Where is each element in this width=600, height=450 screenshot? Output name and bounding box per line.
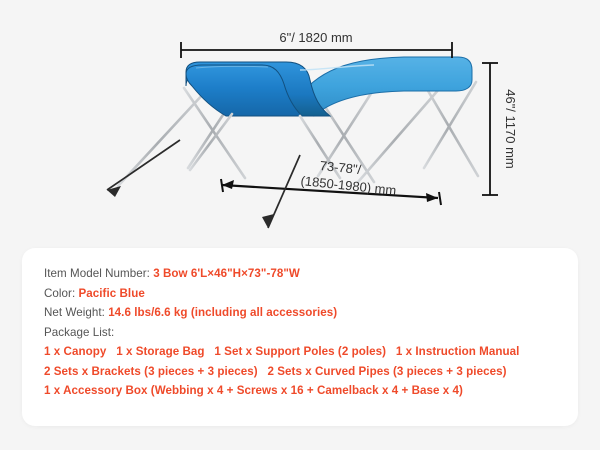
spec-row-color: Color: Pacific Blue [44, 284, 578, 304]
package-item: 2 Sets x Brackets (3 pieces + 3 pieces) [44, 365, 258, 378]
package-item: 1 Set x Support Poles (2 poles) [214, 345, 386, 358]
package-list-colon: : [111, 326, 114, 339]
bimini-top-diagram: 6"/ 1820 mm 46"/ 1170 mm [0, 0, 600, 240]
package-item: 1 x Accessory Box (Webbing x 4 + Screws … [44, 384, 463, 397]
spec-label-net-weight: Net Weight: [44, 306, 108, 319]
spec-value-model: 3 Bow 6'L×46"H×73"-78"W [153, 267, 300, 280]
package-list-row-2: 2 Sets x Brackets (3 pieces + 3 pieces) … [44, 362, 578, 382]
canopy-fabric [186, 57, 472, 116]
spec-label-color: Color: [44, 287, 79, 300]
package-list-heading: Package List [44, 326, 111, 339]
product-spec-card: Item Model Number: 3 Bow 6'L×46"H×73"-78… [22, 248, 578, 426]
package-list-row-3: 1 x Accessory Box (Webbing x 4 + Screws … [44, 381, 578, 401]
depth-arrow [262, 155, 300, 228]
span-dimension-label-line1: 73-78"/ [319, 158, 362, 177]
spec-value-color: Pacific Blue [79, 287, 145, 300]
package-item: 1 x Instruction Manual [396, 345, 520, 358]
spec-label-model: Item Model Number: [44, 267, 153, 280]
spec-row-net-weight: Net Weight: 14.6 lbs/6.6 kg (including a… [44, 303, 578, 323]
package-item: 1 x Canopy [44, 345, 106, 358]
package-item: 2 Sets x Curved Pipes (3 pieces + 3 piec… [268, 365, 507, 378]
width-dimension-label: 6"/ 1820 mm [279, 30, 352, 45]
rear-leg-arrow [107, 140, 180, 197]
span-dimension-label-line2: (1850-1980) mm [300, 173, 397, 198]
product-info-page: 6"/ 1820 mm 46"/ 1170 mm [0, 0, 600, 450]
canopy-right-panel [300, 57, 472, 116]
package-item: 1 x Storage Bag [116, 345, 204, 358]
spec-value-net-weight: 14.6 lbs/6.6 kg (including all accessori… [108, 306, 337, 319]
spec-row-model: Item Model Number: 3 Bow 6'L×46"H×73"-78… [44, 264, 578, 284]
diagram-canvas: 6"/ 1820 mm 46"/ 1170 mm [0, 0, 600, 240]
height-dimension-label: 46"/ 1170 mm [503, 89, 518, 169]
spec-row-package-list-heading: Package List: [44, 323, 578, 343]
package-list-row-1: 1 x Canopy 1 x Storage Bag 1 Set x Suppo… [44, 342, 578, 362]
height-dimension [482, 63, 498, 195]
frame-legs-front [190, 114, 340, 178]
